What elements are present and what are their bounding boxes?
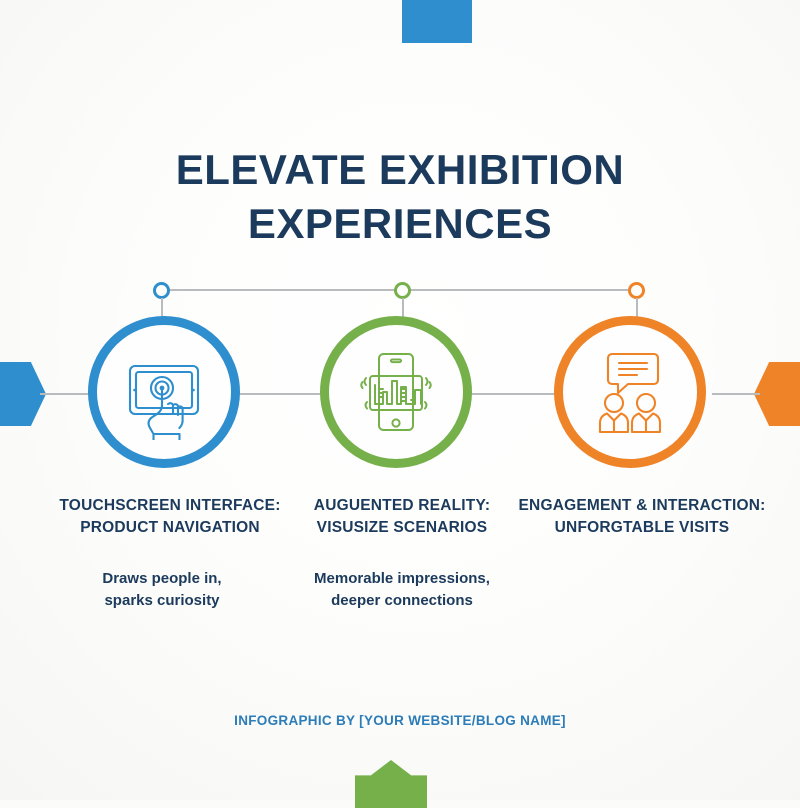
step-2-heading-line-2: VISUSIZE SCENARIOS [290,517,514,539]
connector-segment-1-to-2 [236,393,328,395]
step-2-subtext-line-1: Memorable impressions, [292,568,512,590]
connector-segment-2-to-3 [468,393,560,395]
step-1-subtext: Draws people in, sparks curiosity [54,568,270,612]
right-orange-arrow-shape [754,362,800,426]
bottom-green-arrow-shape [355,760,427,808]
step-3-heading: ENGAGEMENT & INTERACTION: UNFORGTABLE VI… [512,495,772,539]
step-1-subtext-line-1: Draws people in, [54,568,270,590]
step-2-subtext: Memorable impressions, deeper connection… [292,568,512,612]
touchscreen-tablet-hand-icon [116,344,212,440]
step-1-icon-circle[interactable] [88,316,240,468]
rail-node-step-3 [628,282,645,299]
rail-node-step-1 [153,282,170,299]
step-2-icon-circle[interactable] [320,316,472,468]
augmented-reality-phone-city-icon [348,344,444,440]
step-1-subtext-line-2: sparks curiosity [54,590,270,612]
footer-credit: INFOGRAPHIC BY [YOUR WEBSITE/BLOG NAME] [0,713,800,728]
step-2-heading-line-1: AUGUENTED REALITY: [290,495,514,517]
step-1-heading-line-2: PRODUCT NAVIGATION [34,517,306,539]
step-3-icon-circle[interactable] [554,316,706,468]
infographic-canvas: ELEVATE EXHIBITION EXPERIENCES [0,0,800,800]
title-line-1: ELEVATE EXHIBITION [0,143,800,197]
step-1-heading-line-1: TOUCHSCREEN INTERFACE: [34,495,306,517]
page-title: ELEVATE EXHIBITION EXPERIENCES [0,143,800,251]
people-speech-bubble-icon [582,344,678,440]
title-line-2: EXPERIENCES [0,197,800,251]
step-3-heading-line-2: UNFORGTABLE VISITS [512,517,772,539]
top-blue-rectangle-tab [402,0,472,43]
step-3-heading-line-1: ENGAGEMENT & INTERACTION: [512,495,772,517]
step-2-subtext-line-2: deeper connections [292,590,512,612]
connector-segment-right-edge [712,393,760,395]
step-1-heading: TOUCHSCREEN INTERFACE: PRODUCT NAVIGATIO… [34,495,306,539]
rail-node-step-2 [394,282,411,299]
step-2-heading: AUGUENTED REALITY: VISUSIZE SCENARIOS [290,495,514,539]
